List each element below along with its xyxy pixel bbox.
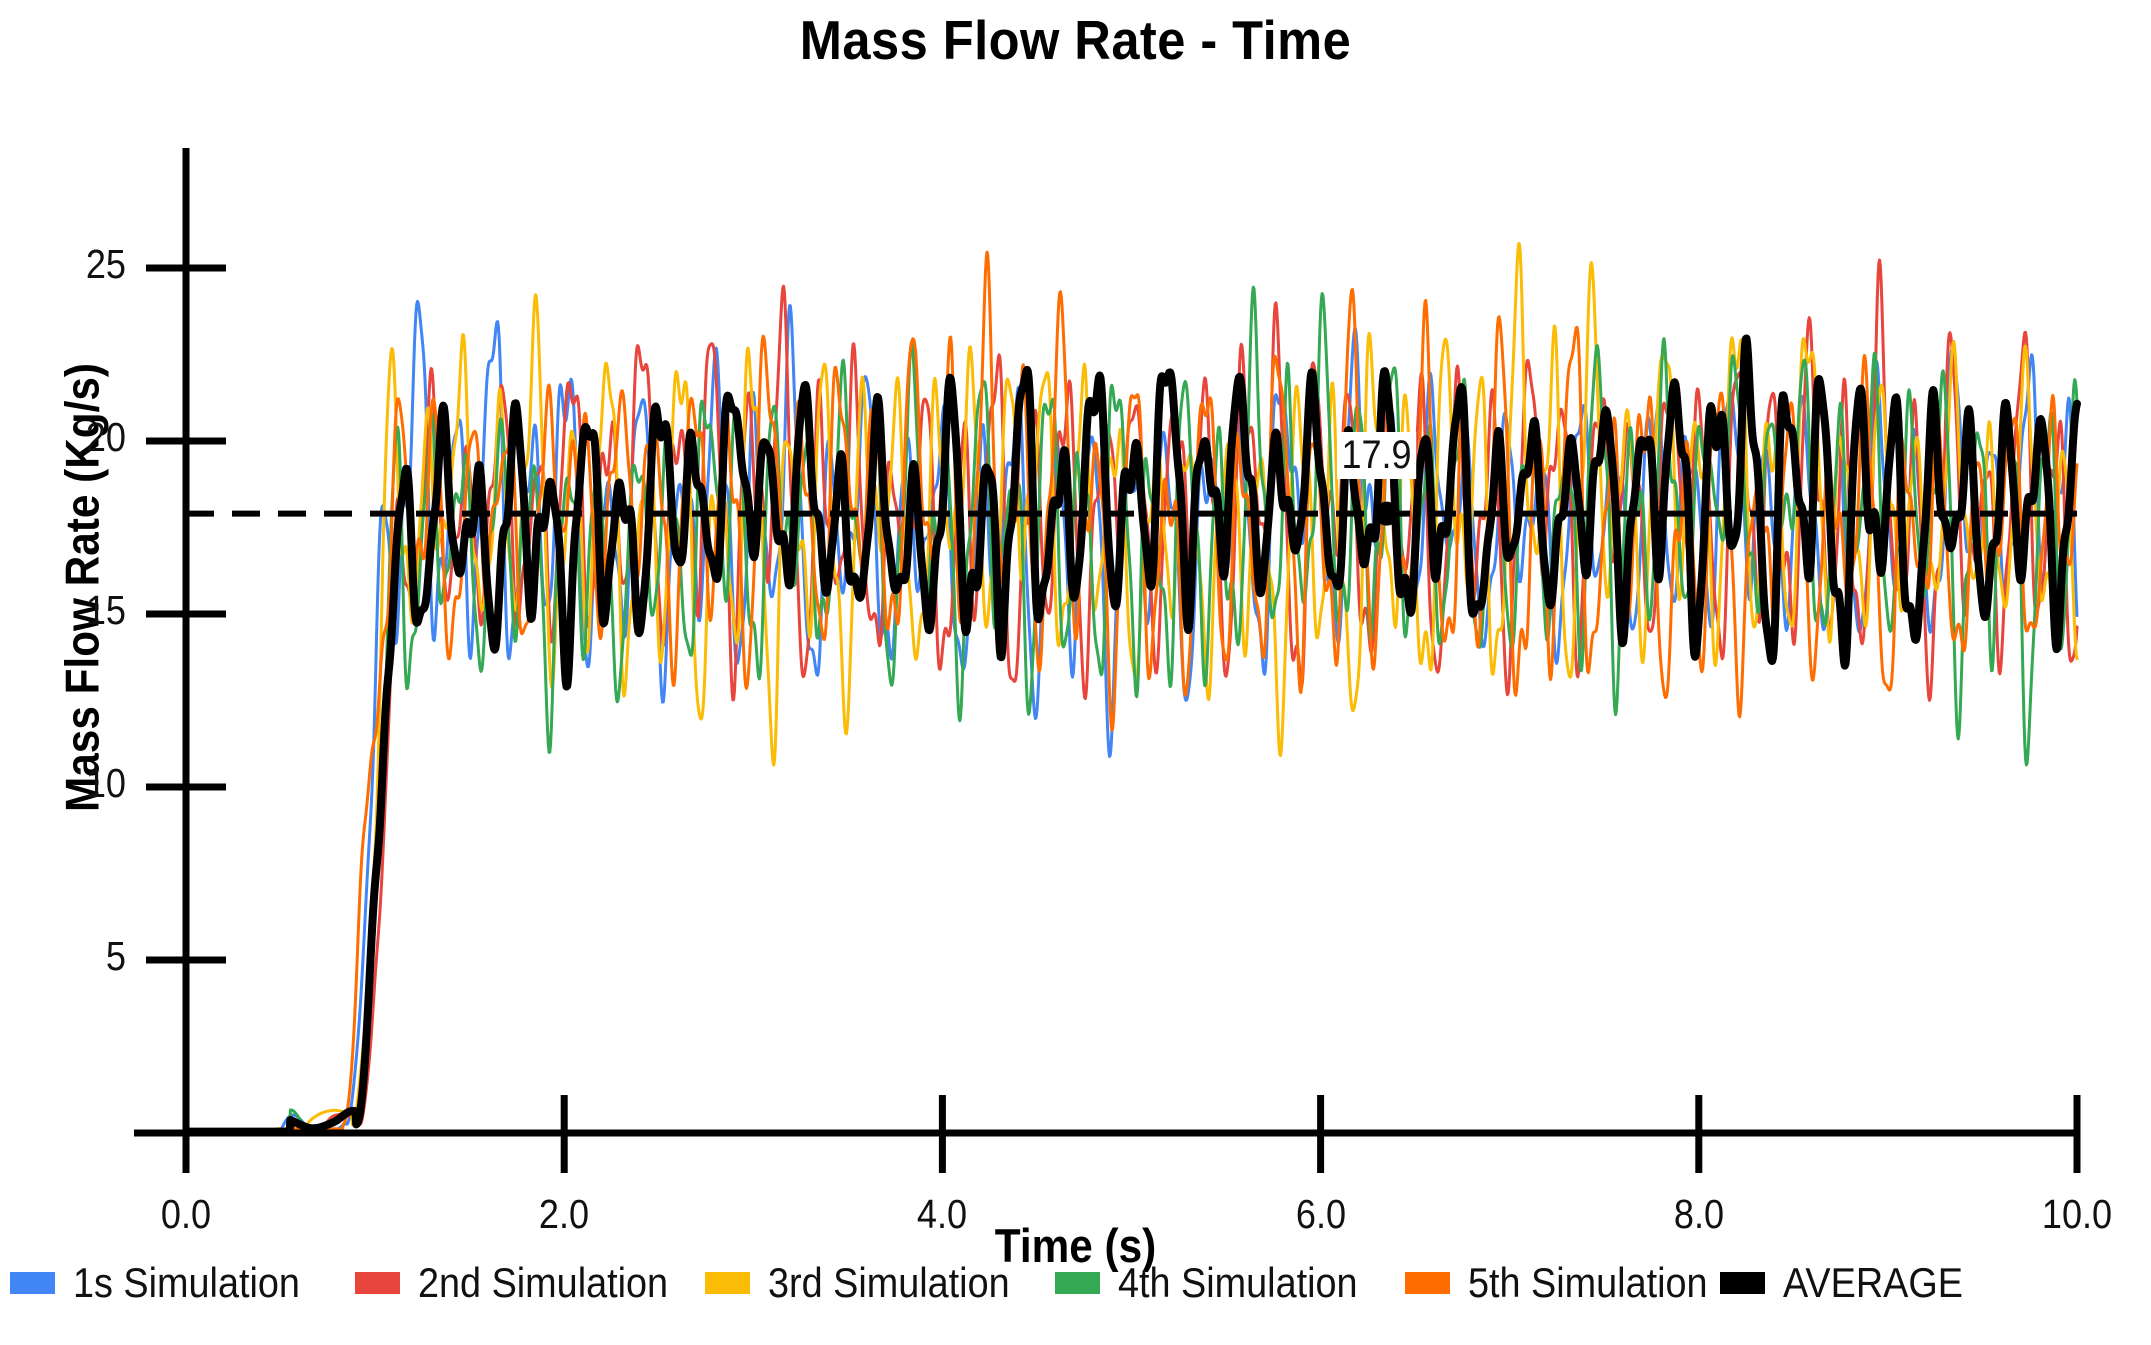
- x-axis-tick-label: 4.0: [863, 1191, 1021, 1238]
- x-axis-tick-label: 10.0: [1998, 1191, 2151, 1238]
- legend-color-swatch: [1720, 1272, 1765, 1294]
- legend-label: 1s Simulation: [73, 1259, 300, 1307]
- x-axis-tick-label: 2.0: [485, 1191, 643, 1238]
- legend-item-3rd-simulation[interactable]: 3rd Simulation: [705, 1259, 1036, 1307]
- x-axis-tick-label: 6.0: [1241, 1191, 1399, 1238]
- series-line-2nd-simulation: [186, 260, 2077, 1132]
- legend-color-swatch: [10, 1272, 55, 1294]
- legend-label: AVERAGE: [1783, 1259, 1963, 1307]
- legend-item-4th-simulation[interactable]: 4th Simulation: [1055, 1259, 1384, 1307]
- legend-color-swatch: [355, 1272, 400, 1294]
- legend-item-1s-simulation[interactable]: 1s Simulation: [10, 1259, 325, 1307]
- legend-item-2nd-simulation[interactable]: 2nd Simulation: [355, 1259, 696, 1307]
- y-axis-tick-label: 5: [20, 933, 126, 980]
- average-point-marker: [1375, 502, 1399, 526]
- legend-label: 2nd Simulation: [418, 1259, 668, 1307]
- series-line-3rd-simulation: [186, 243, 2077, 1131]
- legend-label: 4th Simulation: [1118, 1259, 1358, 1307]
- y-axis-tick-label: 15: [20, 587, 126, 634]
- x-axis-tick-label: 8.0: [1620, 1191, 1778, 1238]
- legend-color-swatch: [1405, 1272, 1450, 1294]
- y-axis-tick-label: 10: [20, 760, 126, 807]
- average-value-label: 17.9: [1337, 432, 1416, 479]
- legend-label: 3rd Simulation: [768, 1259, 1010, 1307]
- y-axis-tick-label: 25: [20, 241, 126, 288]
- legend-color-swatch: [705, 1272, 750, 1294]
- y-axis-tick-label: 20: [20, 414, 126, 461]
- legend-label: 5th Simulation: [1468, 1259, 1708, 1307]
- plot-area: [0, 0, 2151, 1345]
- series-group: [186, 243, 2077, 1131]
- x-axis-tick-label: 0.0: [107, 1191, 265, 1238]
- legend-item-average[interactable]: AVERAGE: [1720, 1259, 1983, 1307]
- legend-color-swatch: [1055, 1272, 1100, 1294]
- series-line-5th-simulation: [186, 252, 2077, 1132]
- legend-item-5th-simulation[interactable]: 5th Simulation: [1405, 1259, 1734, 1307]
- plot-canvas: [0, 0, 2151, 1345]
- chart-root: Mass Flow Rate - Time Mass Flow Rate (Kg…: [0, 0, 2151, 1345]
